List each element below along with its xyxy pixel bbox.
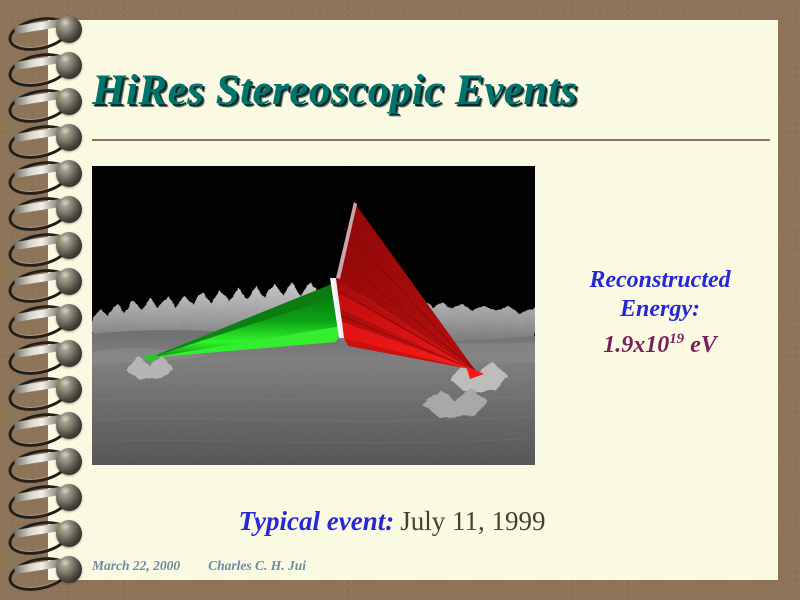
footer-author: Charles C. H. Jui <box>208 558 306 573</box>
shower-graphic <box>92 166 535 465</box>
caption-label: Typical event: <box>239 506 395 536</box>
title-divider <box>92 139 770 141</box>
energy-label-line2: Energy: <box>545 295 775 324</box>
event-caption: Typical event:July 11, 1999 <box>92 506 692 537</box>
energy-value-unit: eV <box>684 332 717 358</box>
footer-date: March 22, 2000 <box>92 558 180 573</box>
slide: HiRes Stereoscopic Events <box>0 0 800 600</box>
energy-value-mantissa: 1.9x10 <box>603 332 669 358</box>
reconstructed-energy-annotation: Reconstructed Energy: 1.9x1019 eV <box>545 266 775 360</box>
caption-date: July 11, 1999 <box>400 506 545 536</box>
cosmic-ray-shower-visualization <box>92 166 535 465</box>
energy-label-line1: Reconstructed <box>545 266 775 295</box>
energy-value: 1.9x1019 eV <box>545 330 775 360</box>
page-title: HiRes Stereoscopic Events <box>92 66 772 115</box>
slide-footer: March 22, 2000Charles C. H. Jui <box>92 558 306 574</box>
energy-value-exponent: 19 <box>669 331 684 347</box>
